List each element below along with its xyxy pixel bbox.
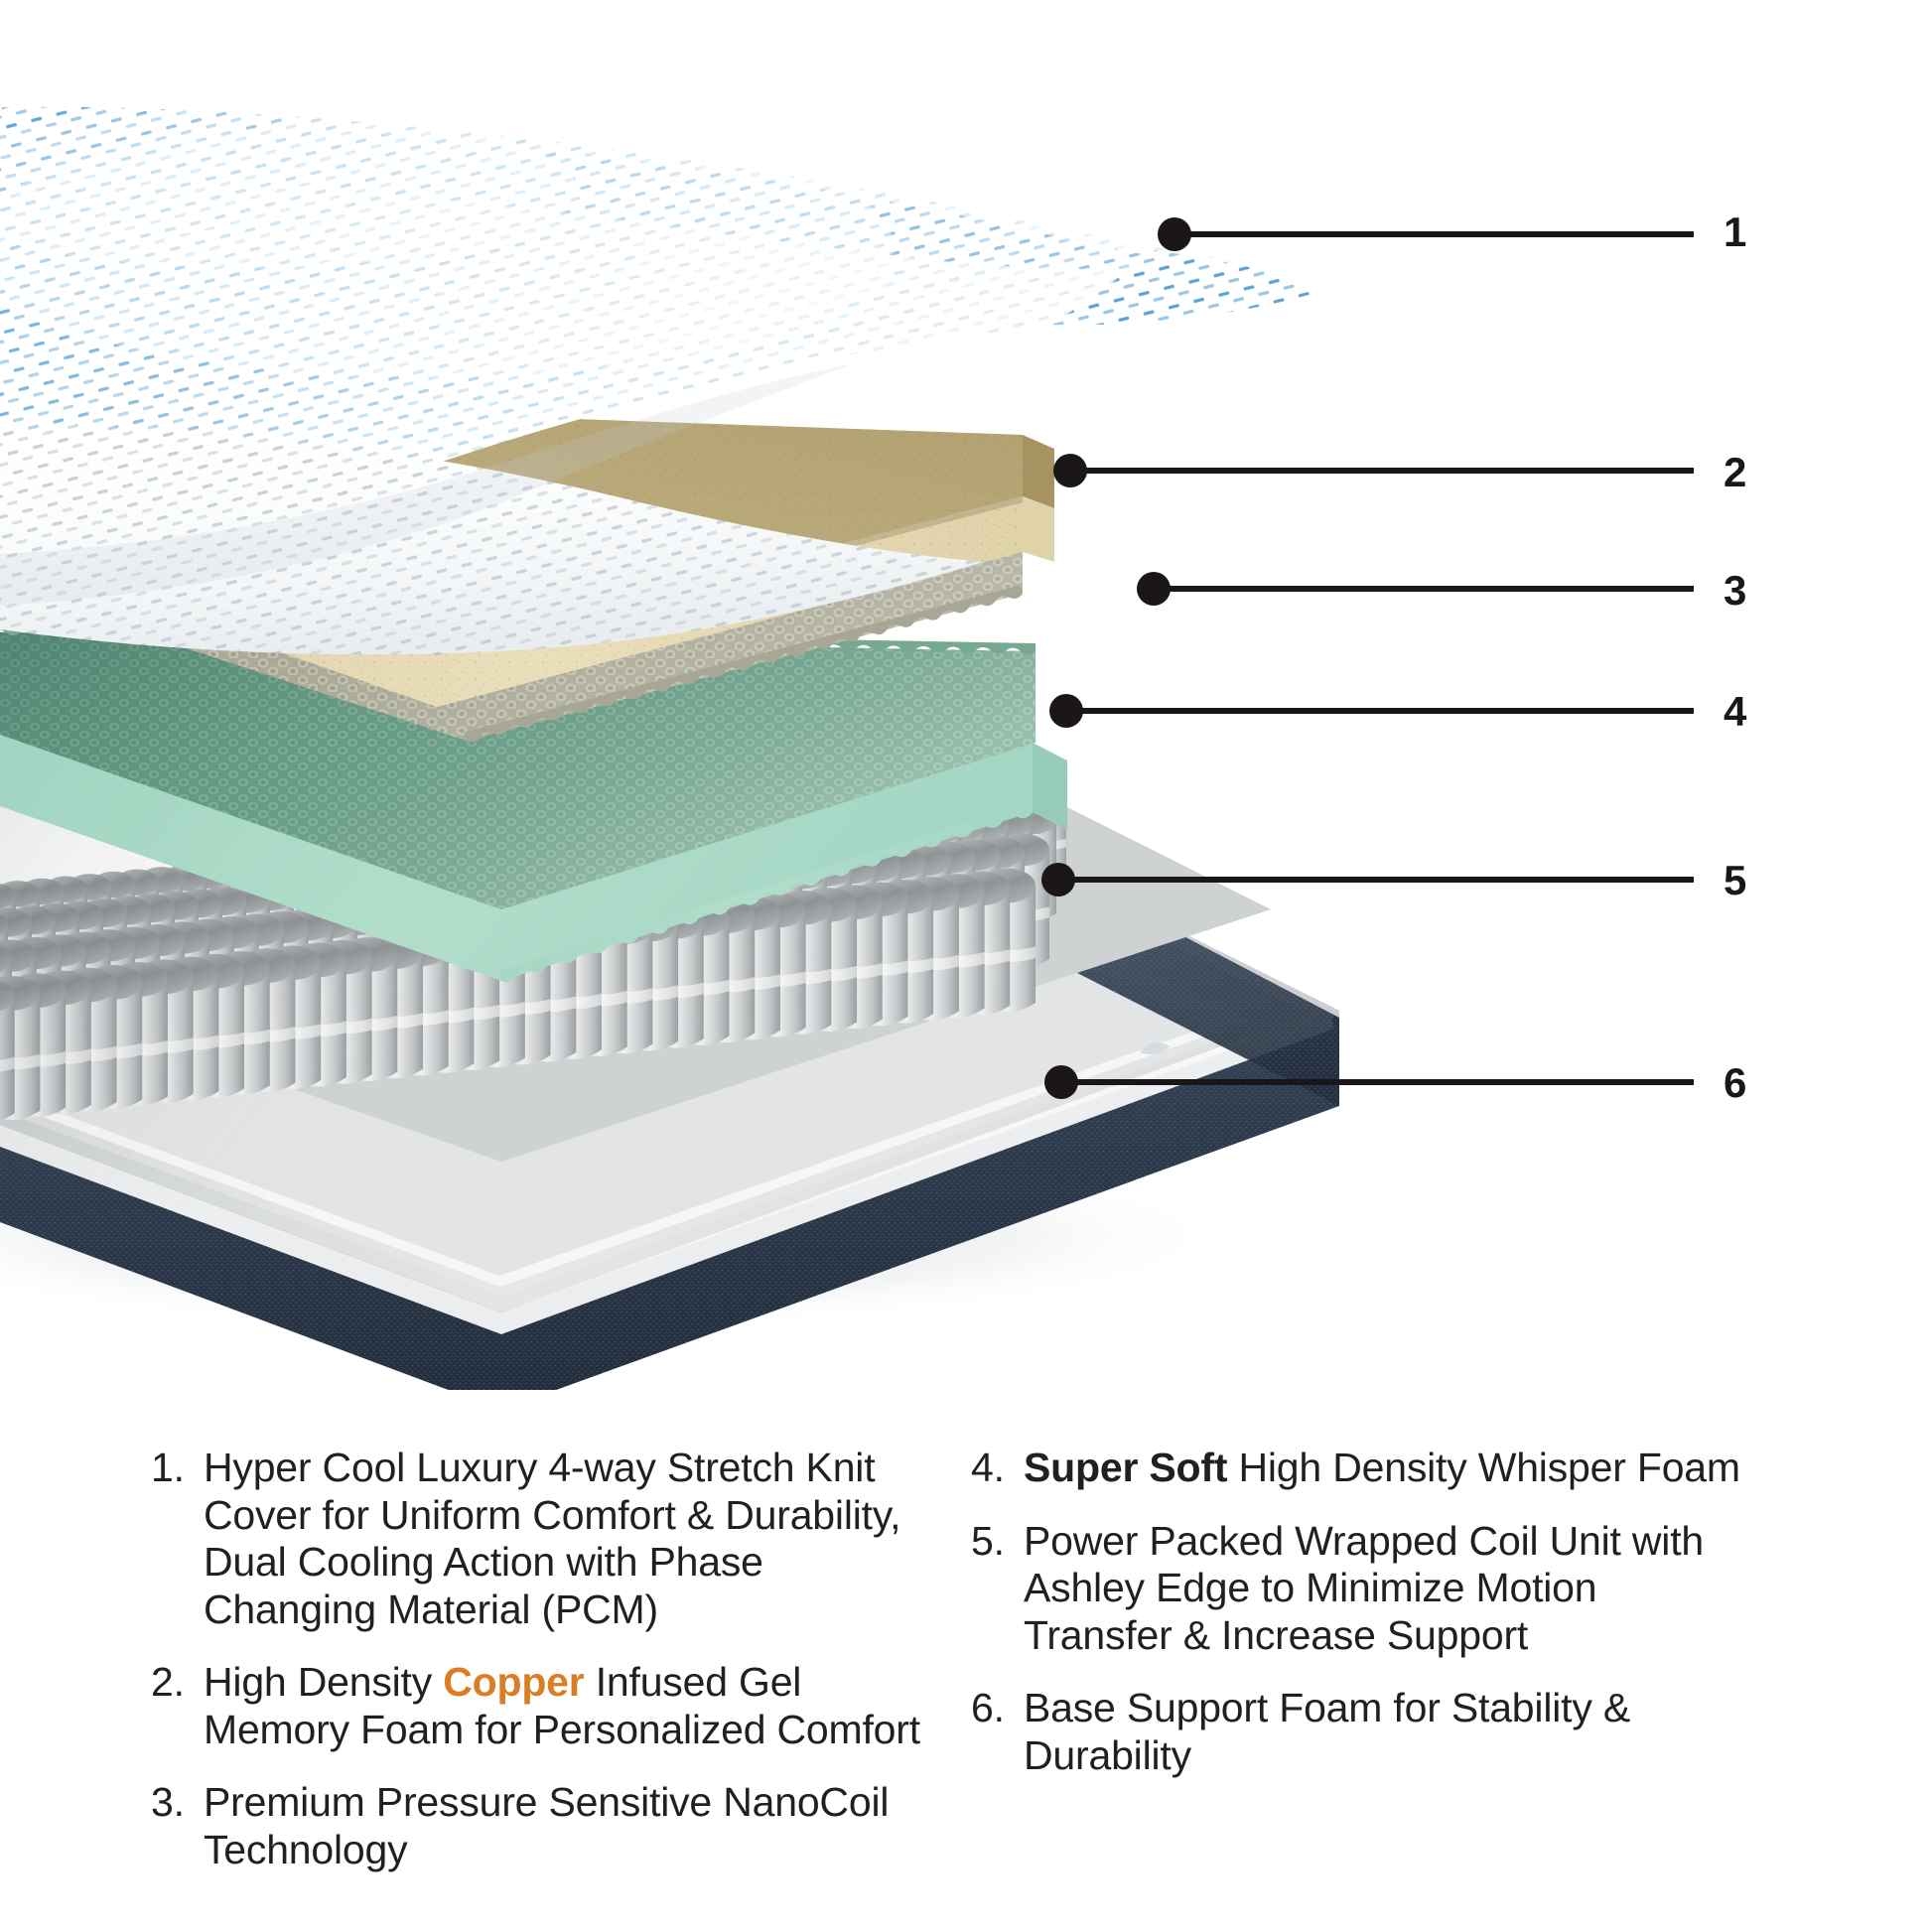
legend-item-5: 5.Power Packed Wrapped Coil Unit with As…: [971, 1518, 1755, 1660]
legend-item-number: 1.: [151, 1445, 204, 1492]
legend: 1.Hyper Cool Luxury 4-way Stretch Knit C…: [0, 1445, 1932, 1932]
legend-column-right: 4.Super Soft High Density Whisper Foam5.…: [971, 1445, 1755, 1805]
layer-knit-cover: [0, 107, 1324, 654]
legend-item-number: 4.: [971, 1445, 1024, 1492]
callout-number-6: 6: [1724, 1062, 1746, 1104]
callout-number-3: 3: [1724, 570, 1746, 612]
legend-text-segment: Copper: [443, 1659, 584, 1705]
leader-dot-4: [1049, 694, 1083, 728]
legend-item-text: Base Support Foam for Stability & Durabi…: [1024, 1685, 1755, 1779]
legend-item-1: 1.Hyper Cool Luxury 4-way Stretch Knit C…: [151, 1445, 925, 1633]
legend-text-segment: Premium Pressure Sensitive NanoCoil Tech…: [204, 1779, 889, 1872]
leader-dot-5: [1041, 863, 1075, 897]
mattress-construction-diagram: 123456 1.Hyper Cool Luxury 4-way Stretch…: [0, 0, 1932, 1932]
callout-number-1: 1: [1724, 211, 1746, 253]
callout-number-2: 2: [1724, 452, 1746, 493]
legend-item-4: 4.Super Soft High Density Whisper Foam: [971, 1445, 1755, 1492]
callout-number-4: 4: [1724, 691, 1746, 733]
legend-item-6: 6.Base Support Foam for Stability & Dura…: [971, 1685, 1755, 1779]
legend-item-2: 2.High Density Copper Infused Gel Memory…: [151, 1659, 925, 1753]
legend-item-number: 3.: [151, 1779, 204, 1827]
legend-item-text: Super Soft High Density Whisper Foam: [1024, 1445, 1755, 1492]
leader-dot-2: [1053, 454, 1087, 487]
legend-text-segment: High Density: [204, 1659, 443, 1705]
legend-text-segment: Power Packed Wrapped Coil Unit with Ashl…: [1024, 1518, 1704, 1658]
leader-dot-3: [1137, 572, 1171, 606]
callout-number-5: 5: [1724, 860, 1746, 901]
leader-dot-1: [1158, 217, 1191, 251]
legend-item-number: 5.: [971, 1518, 1024, 1566]
legend-item-number: 6.: [971, 1685, 1024, 1732]
legend-text-segment: Base Support Foam for Stability & Durabi…: [1024, 1685, 1630, 1778]
legend-text-segment: Hyper Cool Luxury 4-way Stretch Knit Cov…: [204, 1445, 900, 1632]
legend-column-left: 1.Hyper Cool Luxury 4-way Stretch Knit C…: [151, 1445, 925, 1899]
mattress-artwork: [0, 0, 1932, 1390]
leader-dot-6: [1044, 1065, 1078, 1099]
legend-text-segment: High Density Whisper Foam: [1227, 1445, 1740, 1490]
legend-text-segment: Super Soft: [1024, 1445, 1227, 1490]
legend-item-text: Hyper Cool Luxury 4-way Stretch Knit Cov…: [204, 1445, 925, 1633]
legend-item-3: 3.Premium Pressure Sensitive NanoCoil Te…: [151, 1779, 925, 1873]
legend-item-text: Premium Pressure Sensitive NanoCoil Tech…: [204, 1779, 925, 1873]
legend-item-number: 2.: [151, 1659, 204, 1707]
legend-item-text: Power Packed Wrapped Coil Unit with Ashl…: [1024, 1518, 1755, 1660]
exploded-mattress-illustration: 123456: [0, 0, 1932, 1390]
legend-item-text: High Density Copper Infused Gel Memory F…: [204, 1659, 925, 1753]
